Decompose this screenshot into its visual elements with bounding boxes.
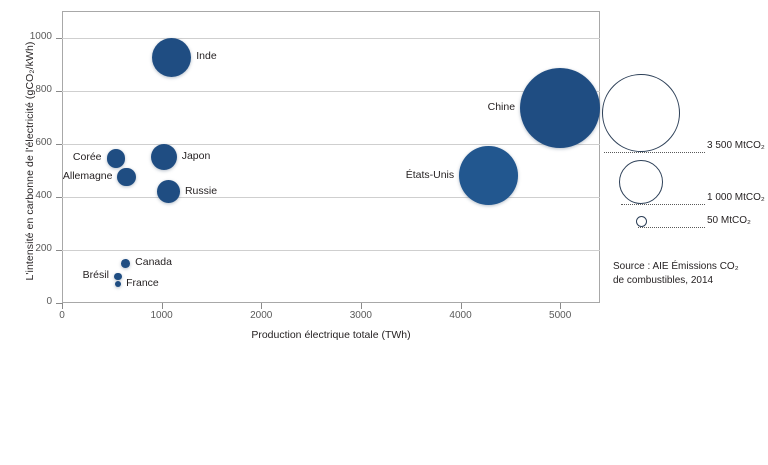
legend-label-3500: 3 500 MtCO₂ bbox=[707, 140, 765, 151]
bubble-chine[interactable] bbox=[520, 68, 600, 148]
bubble-label-russie: Russie bbox=[185, 185, 217, 197]
x-tick-mark bbox=[560, 303, 561, 309]
x-tick-label: 3000 bbox=[331, 310, 391, 321]
bubble-japon[interactable] bbox=[151, 144, 177, 170]
x-tick-mark bbox=[261, 303, 262, 309]
bubble-label-cor-e: Corée bbox=[0, 151, 102, 163]
bubble-label-canada: Canada bbox=[135, 256, 172, 268]
source-line-2: de combustibles, 2014 bbox=[613, 274, 768, 288]
bubble-br-sil[interactable] bbox=[114, 273, 122, 281]
gridline-y bbox=[62, 38, 600, 39]
y-tick-mark bbox=[56, 91, 62, 92]
bubble-label-chine: Chine bbox=[0, 101, 515, 113]
bubble-chart-figure: L'intensité en carbonne de l'électricité… bbox=[0, 0, 768, 465]
y-tick-label: 0 bbox=[8, 296, 52, 307]
x-tick-label: 4000 bbox=[431, 310, 491, 321]
gridline-y bbox=[62, 250, 600, 251]
y-tick-label: 800 bbox=[8, 84, 52, 95]
x-tick-label: 2000 bbox=[231, 310, 291, 321]
bubble-inde[interactable] bbox=[152, 38, 191, 77]
bubble-cor-e[interactable] bbox=[107, 149, 126, 168]
y-tick-label: 600 bbox=[8, 137, 52, 148]
bubble-canada[interactable] bbox=[121, 259, 130, 268]
bubble-label-br-sil: Brésil bbox=[0, 269, 109, 281]
bubble-tats-unis[interactable] bbox=[459, 146, 518, 205]
bubble-label-france: France bbox=[126, 277, 159, 289]
y-tick-mark bbox=[56, 38, 62, 39]
legend-circle-1000 bbox=[619, 160, 663, 204]
gridline-y bbox=[62, 197, 600, 198]
bubble-label-allemagne: Allemagne bbox=[0, 170, 112, 182]
y-tick-mark bbox=[56, 197, 62, 198]
legend-circle-50 bbox=[636, 216, 647, 227]
legend-leader-line bbox=[604, 152, 705, 153]
legend-label-50: 50 MtCO₂ bbox=[707, 215, 751, 226]
x-tick-label: 5000 bbox=[530, 310, 590, 321]
legend-label-1000: 1 000 MtCO₂ bbox=[707, 192, 765, 203]
bubble-size-legend: 3 500 MtCO₂1 000 MtCO₂50 MtCO₂ bbox=[600, 0, 768, 465]
source-line-1: Source : AIE Émissions CO₂ bbox=[613, 260, 768, 274]
x-tick-label: 0 bbox=[32, 310, 92, 321]
bubble-label-japon: Japon bbox=[182, 150, 211, 162]
y-tick-label: 200 bbox=[8, 243, 52, 254]
x-tick-mark bbox=[162, 303, 163, 309]
y-tick-label: 1000 bbox=[8, 31, 52, 42]
x-tick-mark bbox=[361, 303, 362, 309]
legend-leader-line bbox=[638, 227, 706, 228]
x-tick-mark bbox=[62, 303, 63, 309]
y-tick-mark bbox=[56, 144, 62, 145]
gridline-y bbox=[62, 144, 600, 145]
y-tick-mark bbox=[56, 250, 62, 251]
bubble-label-inde: Inde bbox=[196, 50, 216, 62]
bubble-allemagne[interactable] bbox=[117, 168, 136, 187]
x-tick-label: 1000 bbox=[132, 310, 192, 321]
legend-leader-line bbox=[621, 204, 705, 205]
source-note: Source : AIE Émissions CO₂ de combustibl… bbox=[613, 260, 768, 288]
bubble-russie[interactable] bbox=[157, 180, 180, 203]
x-tick-mark bbox=[461, 303, 462, 309]
y-tick-label: 400 bbox=[8, 190, 52, 201]
legend-circle-3500 bbox=[602, 74, 680, 152]
x-axis-title: Production électrique totale (TWh) bbox=[62, 329, 600, 341]
gridline-y bbox=[62, 91, 600, 92]
